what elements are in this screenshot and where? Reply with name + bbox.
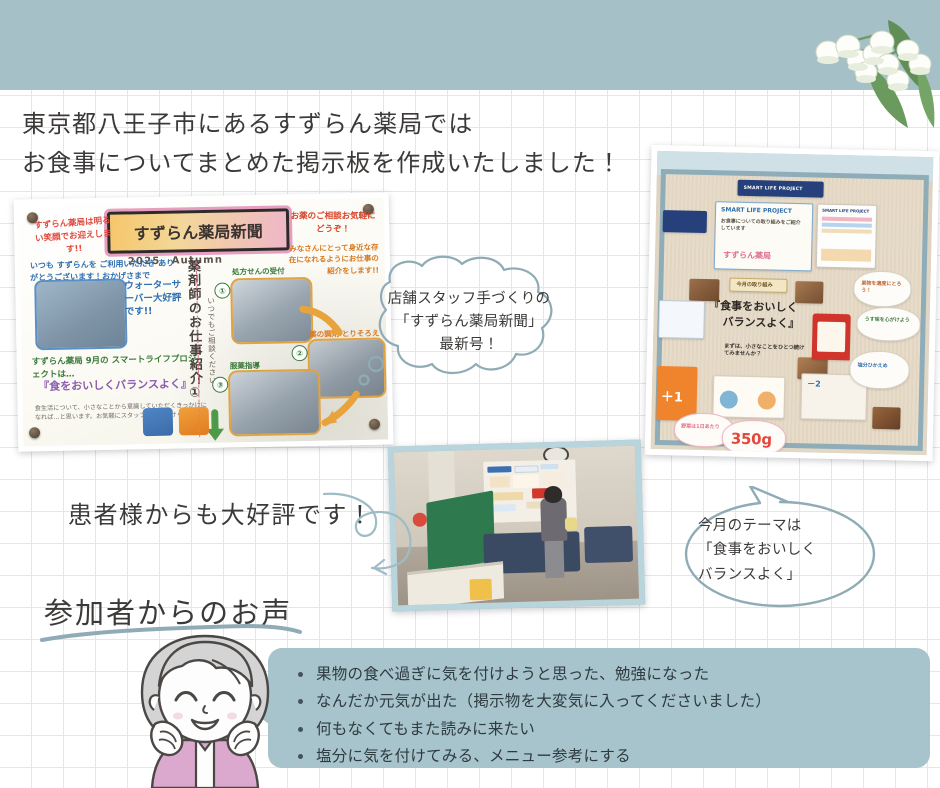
bubble-theme-line-3: バランスよく」 xyxy=(698,563,862,587)
newspaper-sticker-blue xyxy=(143,408,174,437)
board-header-banner: SMART LIFE PROJECT xyxy=(737,180,823,198)
board-section-label: 今月の取り組み xyxy=(729,278,787,293)
board-plus-one-poster: ＋1 xyxy=(656,366,697,421)
list-item: 何もなくてもまた読みに来たい xyxy=(298,716,910,743)
elderly-woman-illustration xyxy=(112,634,298,788)
newspaper-water-server-photo xyxy=(34,278,127,350)
newspaper-title: すずらん薬局新聞 xyxy=(107,208,290,253)
newspaper-water-label: ウォーターサーバー大好評です!! xyxy=(124,279,189,319)
list-item: 塩分に気を付けてみる、メニュー参考にする xyxy=(298,743,910,770)
newspaper-step-label-1: 処方せんの受付 xyxy=(232,265,285,277)
bubble-newspaper-line-1: 店舗スタッフ手づくりの xyxy=(384,288,554,311)
board-veg-target: 350g xyxy=(722,419,787,456)
newspaper-step-label-3: 服薬指導 xyxy=(230,360,260,372)
top-banner xyxy=(0,0,940,90)
board-cloud-note-1: 果物を適度にとろう！ xyxy=(853,270,912,307)
participant-comments-box: 果物の食べ過ぎに気を付けようと思った、勉強になった なんだか元気が出た（掲示物を… xyxy=(268,648,930,768)
hand-drawn-arrow-icon xyxy=(318,488,428,580)
board-food-photo-2 xyxy=(795,281,823,304)
photo-handmade-newspaper: すずらん薬局新聞 2025 Autumn すずらん薬局は明るい笑顔でお迎えします… xyxy=(14,192,394,451)
board-food-photo-1 xyxy=(689,279,719,302)
poster-page: 東京都八王子市にあるすずらん薬局では お食事についてまとめた掲示板を作成いたしま… xyxy=(0,0,940,788)
board-cloud-note-3: 塩分ひかえめ xyxy=(849,350,910,389)
newspaper-sticker-orange xyxy=(179,407,210,436)
board-red-house-poster xyxy=(812,313,851,360)
board-side-banner xyxy=(663,210,707,233)
bubble-theme-line-2: 「食事をおいしく xyxy=(698,538,862,562)
photo-bulletin-board: SMART LIFE PROJECT SMART LIFE PROJECT お食… xyxy=(645,145,940,461)
speech-bubble-newspaper: 店舗スタッフ手づくりの 「すずらん薬局新聞」 最新号！ xyxy=(356,252,582,392)
headline-line-1: 東京都八王子市にあるすずらん薬局では xyxy=(22,105,642,144)
headline-line-2: お食事についてまとめた掲示板を作成いたしました！ xyxy=(22,144,642,183)
newspaper-arrow-icon-2 xyxy=(318,390,365,431)
newspaper-inset-photo-3 xyxy=(228,369,321,437)
bubble-newspaper-line-3: 最新号！ xyxy=(384,334,554,357)
board-prompt: まずは、小さなことをひとつ続けてみませんか？ xyxy=(724,343,808,359)
newspaper-step-num-2: ② xyxy=(291,345,307,361)
newspaper-step-num-1: ① xyxy=(214,282,230,298)
board-illustration-poster xyxy=(712,375,785,419)
board-printed-poster: SMART LIFE PROJECT xyxy=(816,204,877,269)
list-item: 果物の食べ過ぎに気を付けようと思った、勉強になった xyxy=(298,661,910,688)
comment-list: 果物の食べ過ぎに気を付けようと思った、勉強になった なんだか元気が出た（掲示物を… xyxy=(298,661,910,771)
speech-bubble-theme: 今月のテーマは 「食事をおいしく バランスよく」 xyxy=(668,486,890,616)
board-food-photo-4 xyxy=(872,407,900,430)
bubble-newspaper-line-2: 「すずらん薬局新聞」 xyxy=(384,311,554,334)
newspaper-vertical-sub: いつでもご相談ください xyxy=(203,297,219,385)
newspaper-arrow-icon-1 xyxy=(299,302,346,343)
newspaper-red-right: お薬のご相談お気軽にどうぞ！ xyxy=(290,210,376,236)
board-cloud-note-2: うす味を心がけよう xyxy=(856,306,921,341)
page-title: 東京都八王子市にあるすずらん薬局では お食事についてまとめた掲示板を作成いたしま… xyxy=(22,105,642,183)
bubble-theme-line-1: 今月のテーマは xyxy=(698,514,862,538)
board-left-poster xyxy=(658,300,705,339)
list-item: なんだか元気が出た（掲示物を大変気に入ってくださいました） xyxy=(298,688,910,715)
newspaper-step-num-3: ③ xyxy=(212,377,228,393)
board-handwritten-poster: SMART LIFE PROJECT お食事についての取り組みをご紹介しています… xyxy=(714,201,814,271)
newspaper-red-left: すずらん薬局は明るい笑顔でお迎えします!! xyxy=(30,215,117,259)
